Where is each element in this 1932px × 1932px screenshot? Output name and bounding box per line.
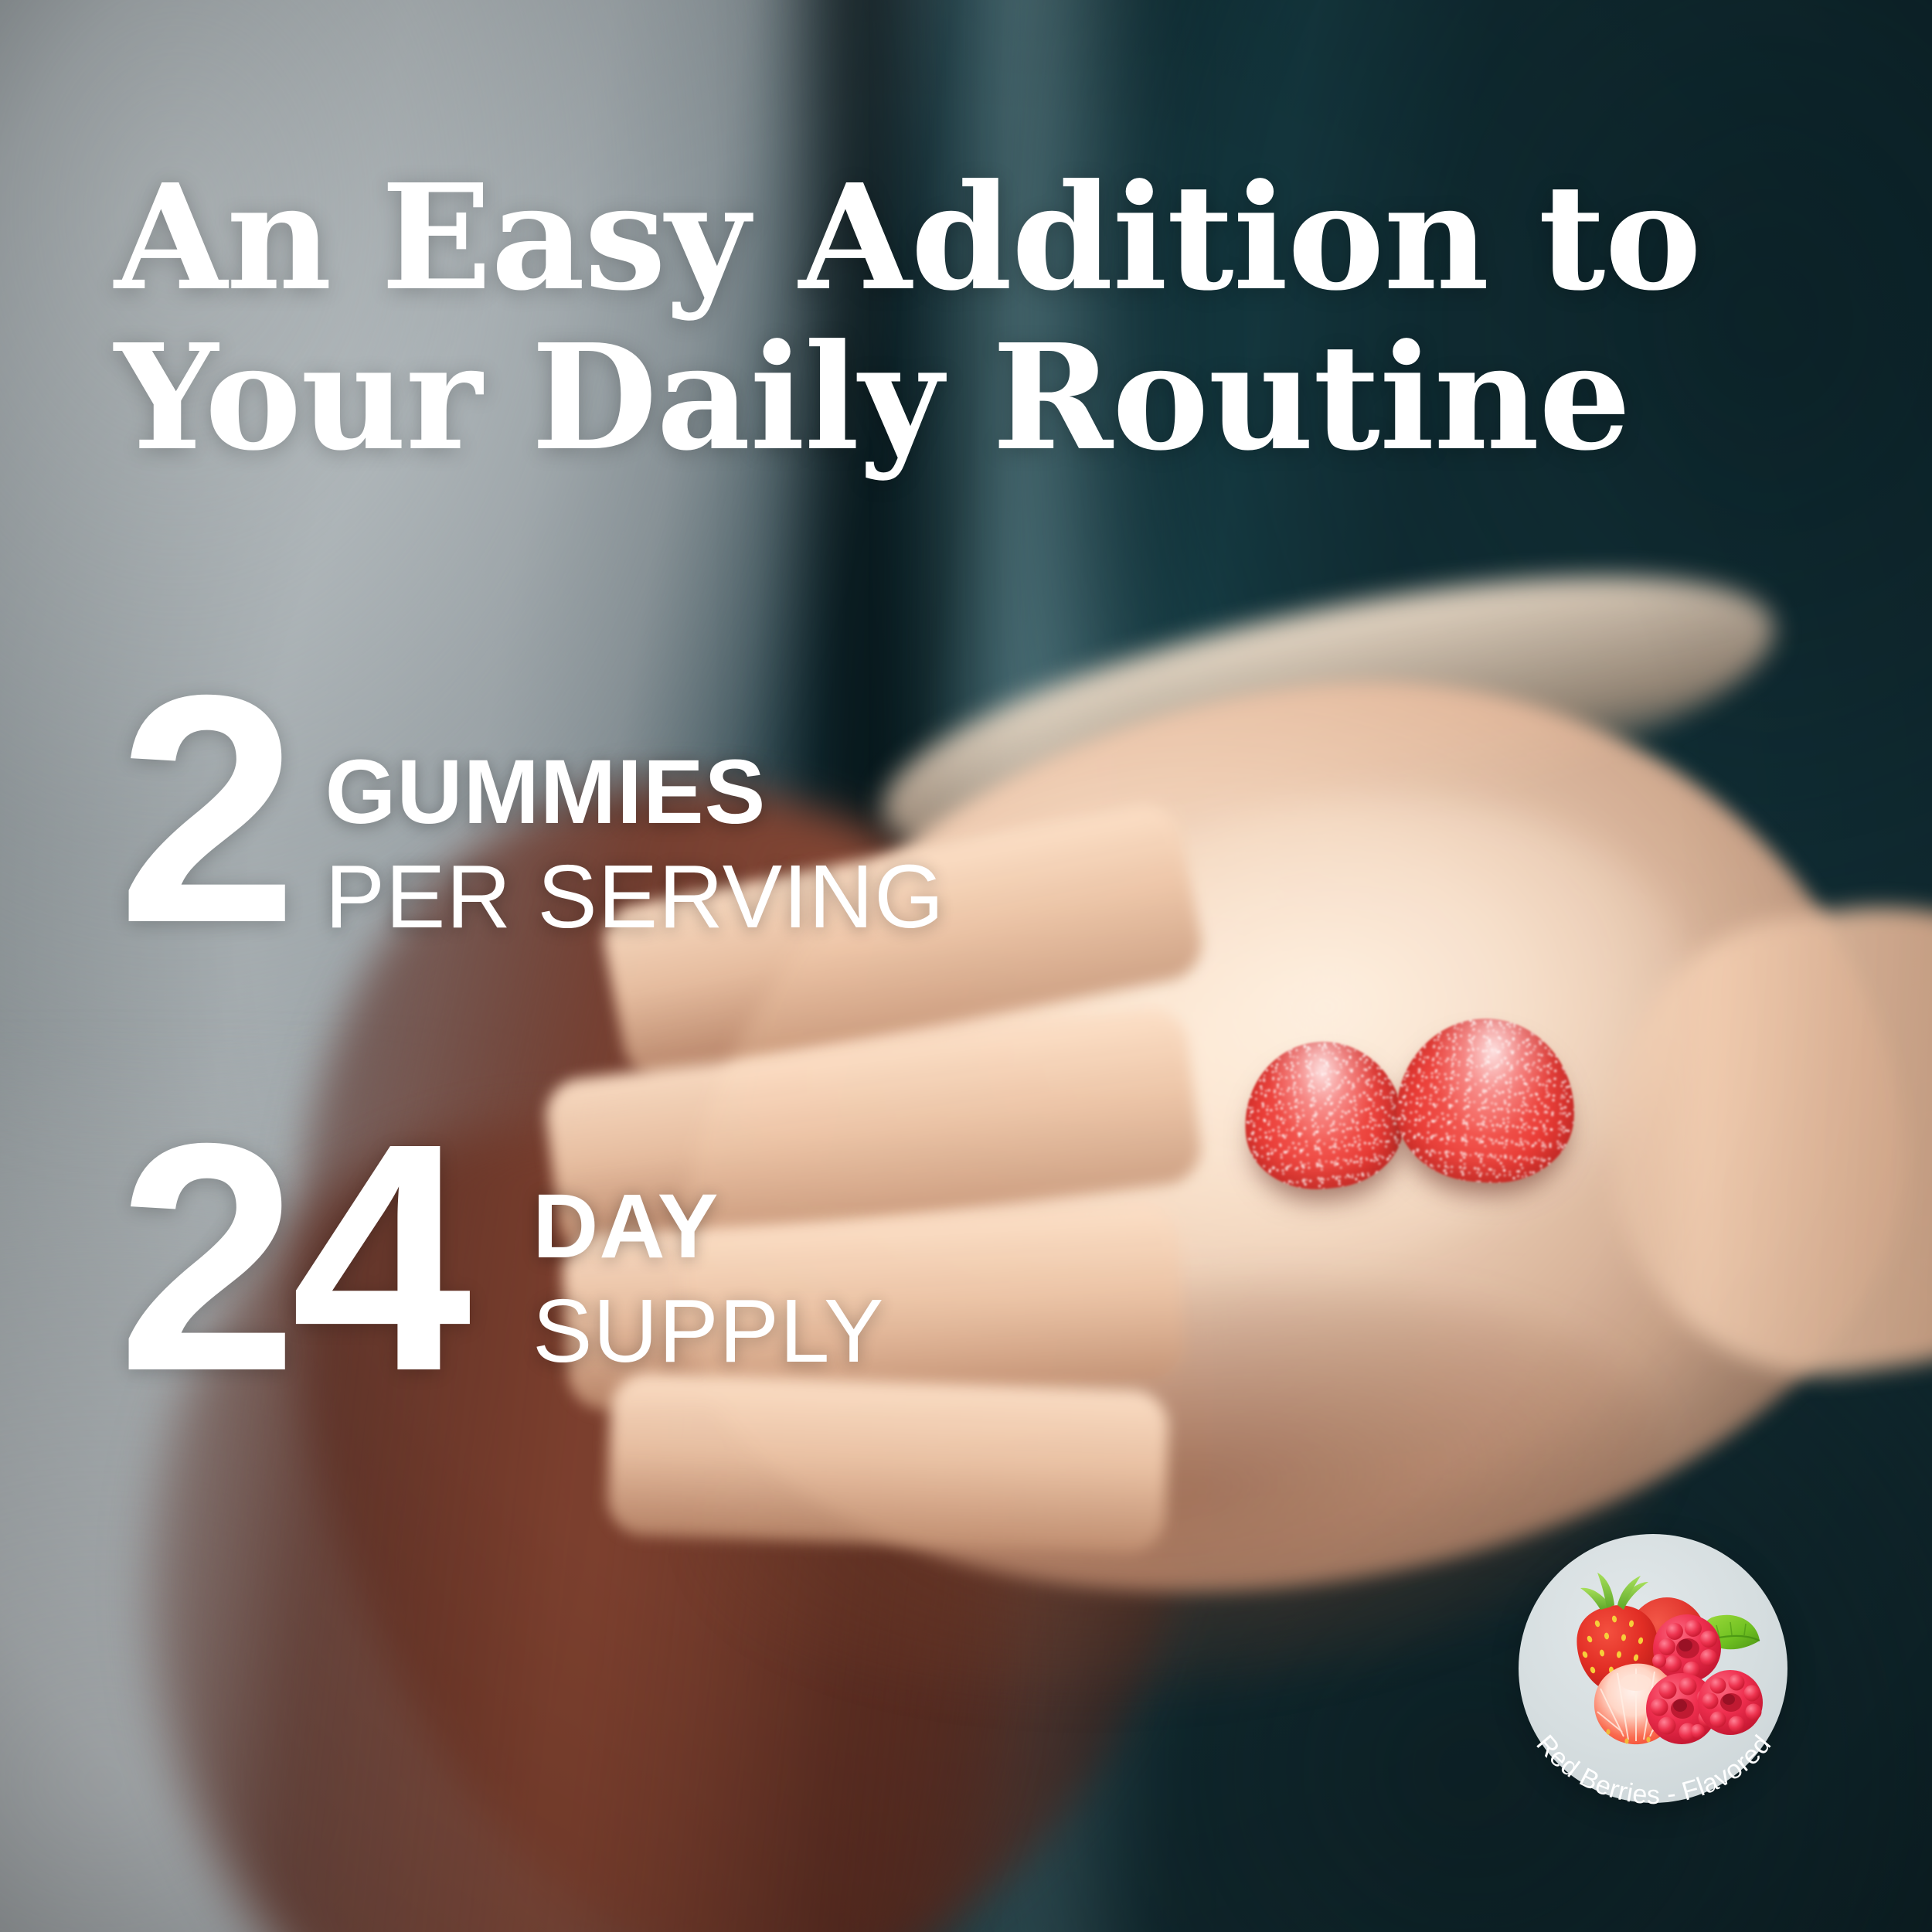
flavor-badge: Red Berries - Flavored [1495, 1511, 1812, 1828]
headline-line-2: Your Daily Routine [114, 318, 1583, 478]
red-berries-icon [1546, 1566, 1764, 1749]
stat-number-gummies: 2 [117, 677, 291, 943]
stat-label-supply: SUPPLY [532, 1286, 884, 1376]
stat-gummies-per-serving: 2 GUMMIES PER SERVING [117, 682, 944, 943]
stat-label-per-serving: PER SERVING [325, 852, 945, 941]
stat-label-group-gummies: GUMMIES PER SERVING [325, 682, 945, 941]
stat-number-days: 24 [117, 1125, 464, 1391]
stat-label-gummies: GUMMIES [325, 747, 945, 838]
page-title: An Easy Addition to Your Daily Routine [114, 158, 1583, 478]
stat-label-group-supply: DAY SUPPLY [532, 1130, 884, 1376]
stat-label-day: DAY [532, 1181, 884, 1272]
headline-line-1: An Easy Addition to [114, 158, 1583, 318]
finger [607, 1372, 1170, 1553]
stat-day-supply: 24 DAY SUPPLY [117, 1130, 884, 1391]
product-graphic-canvas: An Easy Addition to Your Daily Routine 2… [0, 0, 1932, 1932]
